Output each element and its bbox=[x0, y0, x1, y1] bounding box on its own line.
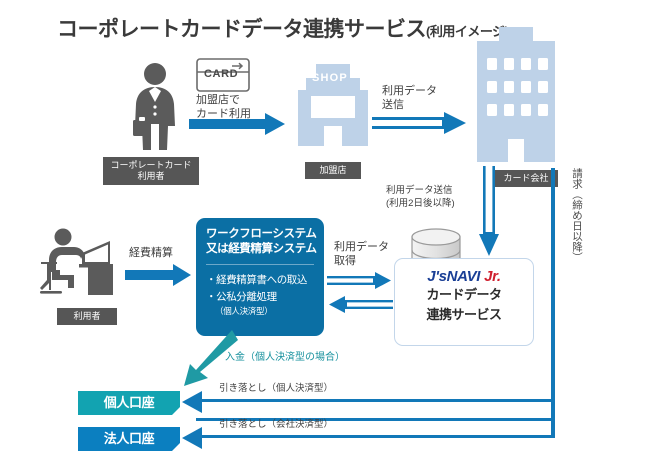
arrow-use-card bbox=[189, 112, 287, 136]
workflow-head-line1: ワークフローシステム bbox=[206, 227, 315, 242]
flow-label-send-usage-data: 利用データ 送信 bbox=[382, 84, 437, 112]
arrow-get-usage-data-response bbox=[327, 296, 393, 314]
flow-label-get-usage-data-line2: 取得 bbox=[334, 254, 389, 268]
arrow-card-company-to-service bbox=[479, 166, 503, 258]
billing-connector-personal bbox=[196, 399, 555, 402]
arrowhead-debit-corporate bbox=[182, 427, 202, 449]
flow-label-send-usage-2days: 利用データ送信 (利用2日後以降) bbox=[386, 184, 455, 210]
billing-connector-corporate-bottom bbox=[196, 435, 555, 438]
flow-label-expense-settlement: 経費精算 bbox=[129, 246, 173, 260]
flow-label-billing: 請求（締め日以降） bbox=[570, 168, 583, 263]
account-corporate-fold-icon bbox=[172, 443, 180, 451]
card-company-chip: カード会社 bbox=[494, 170, 558, 187]
billing-vertical-line bbox=[551, 168, 555, 421]
arrow-get-usage-data-request bbox=[327, 272, 393, 290]
workflow-divider bbox=[206, 264, 314, 265]
jsnavi-logo-blue: J'sNAVI bbox=[427, 268, 480, 285]
card-user-icon bbox=[126, 62, 184, 154]
page-title: コーポレートカードデータ連携サービス(利用イメージ) bbox=[57, 13, 508, 43]
card-label-text: CARD bbox=[204, 68, 238, 80]
arrowhead-debit-personal bbox=[182, 391, 202, 413]
flow-label-get-usage-data: 利用データ 取得 bbox=[334, 240, 389, 268]
arrow-expense-settlement bbox=[125, 264, 193, 286]
jsnavi-service-box: J'sNAVI Jr. カードデータ 連携サービス bbox=[394, 258, 534, 346]
flow-label-deposit: 入金（個人決済型の場合） bbox=[225, 351, 345, 364]
workflow-system-box: ワークフローシステム 又は経費精算システム ・経費精算書への取込 ・公私分離処理… bbox=[196, 218, 324, 336]
account-box-corporate[interactable]: 法人口座 bbox=[78, 427, 180, 451]
merchant-chip: 加盟店 bbox=[305, 162, 361, 179]
employee-desk-icon bbox=[38, 228, 116, 300]
workflow-item-2-note: （個人決済型） bbox=[215, 306, 315, 317]
flow-label-send-usage-2days-line1: 利用データ送信 bbox=[386, 184, 455, 197]
workflow-item-1: ・経費精算書への取込 bbox=[206, 272, 315, 289]
flow-label-debit-personal: 引き落とし（個人決済型） bbox=[219, 382, 333, 395]
jsnavi-line2: 連携サービス bbox=[395, 305, 533, 325]
card-user-chip-line1: コーポレートカード bbox=[109, 160, 193, 171]
flow-label-debit-corporate: 引き落とし（会社決済型） bbox=[219, 418, 333, 431]
page-title-main: コーポレートカードデータ連携サービス bbox=[57, 18, 426, 41]
account-personal-fold-icon bbox=[172, 407, 180, 415]
flow-label-send-usage-data-line1: 利用データ bbox=[382, 84, 437, 98]
jsnavi-logo-red: Jr. bbox=[484, 268, 501, 285]
jsnavi-line1: カードデータ bbox=[395, 285, 533, 305]
workflow-item-2: ・公私分離処理 bbox=[206, 289, 315, 306]
account-box-personal[interactable]: 個人口座 bbox=[78, 391, 180, 415]
workflow-head-line2: 又は経費精算システム bbox=[206, 242, 315, 257]
card-company-building-icon bbox=[477, 27, 555, 162]
flow-label-get-usage-data-line1: 利用データ bbox=[334, 240, 389, 254]
employee-chip: 利用者 bbox=[57, 308, 117, 325]
flow-label-send-usage-data-line2: 送信 bbox=[382, 98, 437, 112]
account-corporate-label: 法人口座 bbox=[104, 431, 154, 446]
diagram-canvas: コーポレートカードデータ連携サービス(利用イメージ) コーポレートカード 利用者… bbox=[0, 0, 650, 472]
account-personal-label: 個人口座 bbox=[104, 395, 154, 410]
shop-sign-text: SHOP bbox=[312, 72, 348, 84]
flow-label-send-usage-2days-line2: (利用2日後以降) bbox=[386, 197, 455, 210]
flow-label-use-card-line1: 加盟店で bbox=[196, 93, 251, 107]
card-user-chip: コーポレートカード 利用者 bbox=[103, 157, 199, 185]
jsnavi-logo: J'sNAVI Jr. bbox=[395, 268, 533, 285]
card-user-chip-line2: 利用者 bbox=[109, 171, 193, 182]
arrow-send-usage-data bbox=[372, 112, 468, 134]
